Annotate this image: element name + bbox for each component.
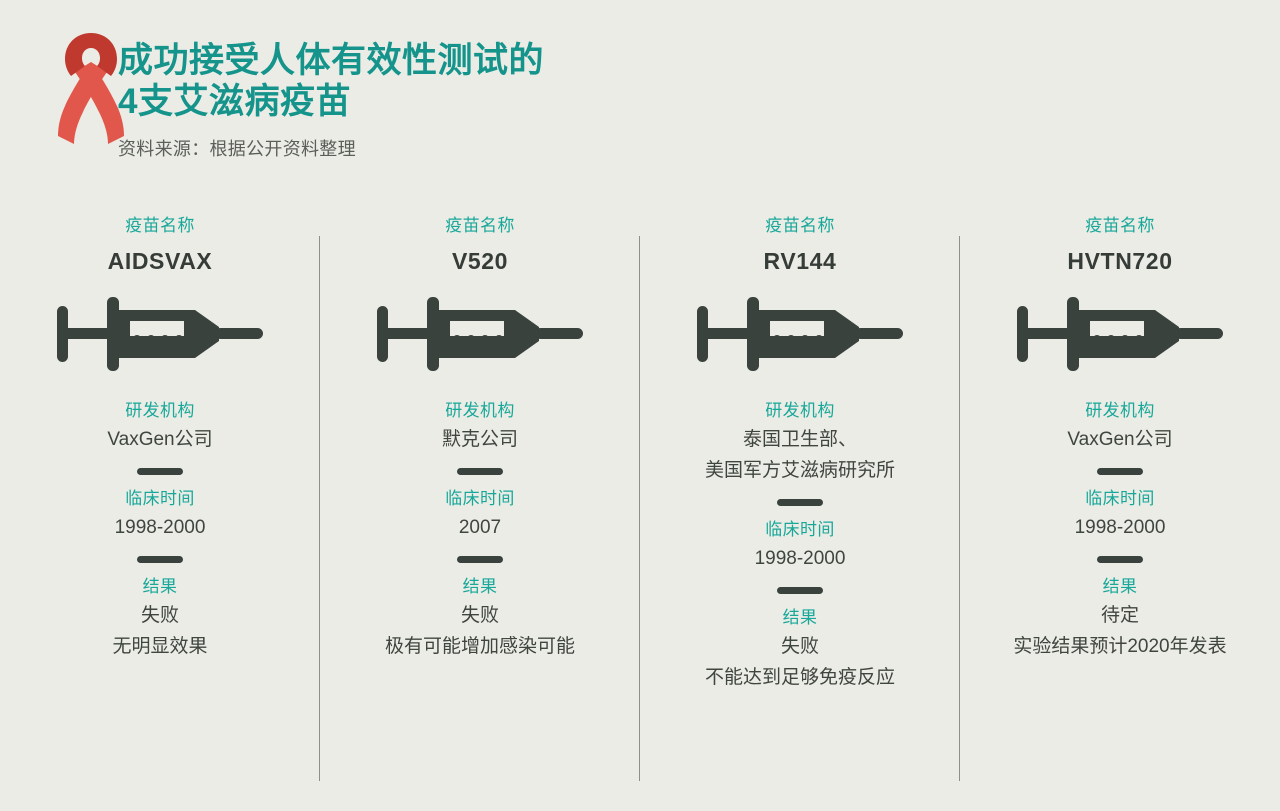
time-block: 临床时间 2007 bbox=[445, 488, 515, 541]
syringe-icon bbox=[697, 294, 903, 374]
result-value-line-2: 实验结果预计2020年发表 bbox=[1013, 633, 1226, 660]
result-value-line-1: 失败 bbox=[385, 602, 575, 629]
label-vaccine-name: 疫苗名称 bbox=[765, 215, 835, 237]
result-block: 结果 失败 极有可能增加感染可能 bbox=[385, 576, 575, 660]
separator-dash bbox=[777, 587, 823, 594]
syringe-icon bbox=[1017, 294, 1223, 374]
result-block: 结果 待定 实验结果预计2020年发表 bbox=[1013, 576, 1226, 660]
page-title-line-1: 成功接受人体有效性测试的 bbox=[118, 40, 544, 81]
vaccine-name-value: AIDSVAX bbox=[108, 248, 213, 275]
org-block: 研发机构 VaxGen公司 bbox=[1067, 400, 1172, 453]
org-block: 研发机构 VaxGen公司 bbox=[107, 400, 212, 453]
result-value-line-1: 失败 bbox=[705, 633, 895, 660]
label-result: 结果 bbox=[112, 576, 207, 598]
separator-dash bbox=[1097, 556, 1143, 563]
title-block: 成功接受人体有效性测试的 4支艾滋病疫苗 资料来源：根据公开资料整理 bbox=[118, 40, 544, 161]
vaccine-column-aidsvax: 疫苗名称 AIDSVAX 研发机构 VaxGen公司 临床时间 bbox=[0, 215, 320, 785]
label-time: 临床时间 bbox=[115, 488, 206, 510]
org-value-line-1: 默克公司 bbox=[442, 426, 518, 453]
label-org: 研发机构 bbox=[107, 400, 212, 422]
label-org: 研发机构 bbox=[1067, 400, 1172, 422]
result-value-line-2: 极有可能增加感染可能 bbox=[385, 633, 575, 660]
vaccine-name-value: RV144 bbox=[764, 248, 837, 275]
result-value-line-2: 不能达到足够免疫反应 bbox=[705, 664, 895, 691]
vaccine-name-value: V520 bbox=[452, 248, 508, 275]
vaccine-name-value: HVTN720 bbox=[1067, 248, 1172, 275]
label-result: 结果 bbox=[1013, 576, 1226, 598]
time-value: 2007 bbox=[445, 514, 515, 541]
label-result: 结果 bbox=[385, 576, 575, 598]
separator-dash bbox=[457, 468, 503, 475]
page-title-line-2: 4支艾滋病疫苗 bbox=[118, 81, 544, 122]
org-value-line-1: VaxGen公司 bbox=[107, 426, 212, 453]
vaccine-column-rv144: 疫苗名称 RV144 研发机构 泰国卫生部、 美国军方艾滋病研究所 bbox=[640, 215, 960, 785]
label-vaccine-name: 疫苗名称 bbox=[445, 215, 515, 237]
result-block: 结果 失败 不能达到足够免疫反应 bbox=[705, 607, 895, 691]
vaccine-column-v520: 疫苗名称 V520 研发机构 默克公司 临床时间 2007 bbox=[320, 215, 640, 785]
vaccine-columns: 疫苗名称 AIDSVAX 研发机构 VaxGen公司 临床时间 bbox=[0, 215, 1280, 785]
label-result: 结果 bbox=[705, 607, 895, 629]
label-vaccine-name: 疫苗名称 bbox=[1085, 215, 1155, 237]
separator-dash bbox=[777, 499, 823, 506]
result-value-line-2: 无明显效果 bbox=[112, 633, 207, 660]
vaccine-column-hvtn720: 疫苗名称 HVTN720 研发机构 VaxGen公司 临床时间 bbox=[960, 215, 1280, 785]
label-vaccine-name: 疫苗名称 bbox=[125, 215, 195, 237]
syringe-icon bbox=[377, 294, 583, 374]
label-org: 研发机构 bbox=[442, 400, 518, 422]
label-time: 临床时间 bbox=[445, 488, 515, 510]
separator-dash bbox=[1097, 468, 1143, 475]
separator-dash bbox=[137, 468, 183, 475]
time-value: 1998-2000 bbox=[1075, 514, 1166, 541]
result-value-line-1: 失败 bbox=[112, 602, 207, 629]
time-block: 临床时间 1998-2000 bbox=[1075, 488, 1166, 541]
org-block: 研发机构 默克公司 bbox=[442, 400, 518, 453]
label-time: 临床时间 bbox=[755, 519, 846, 541]
time-value: 1998-2000 bbox=[755, 545, 846, 572]
time-value: 1998-2000 bbox=[115, 514, 206, 541]
org-value-line-1: 泰国卫生部、 bbox=[705, 426, 895, 453]
time-block: 临床时间 1998-2000 bbox=[115, 488, 206, 541]
header: 成功接受人体有效性测试的 4支艾滋病疫苗 资料来源：根据公开资料整理 bbox=[0, 0, 1280, 200]
time-block: 临床时间 1998-2000 bbox=[755, 519, 846, 572]
separator-dash bbox=[137, 556, 183, 563]
org-block: 研发机构 泰国卫生部、 美国军方艾滋病研究所 bbox=[705, 400, 895, 484]
separator-dash bbox=[457, 556, 503, 563]
org-value-line-2: 美国军方艾滋病研究所 bbox=[705, 457, 895, 484]
result-block: 结果 失败 无明显效果 bbox=[112, 576, 207, 660]
result-value-line-1: 待定 bbox=[1013, 602, 1226, 629]
syringe-icon bbox=[57, 294, 263, 374]
label-time: 临床时间 bbox=[1075, 488, 1166, 510]
label-org: 研发机构 bbox=[705, 400, 895, 422]
source-note: 资料来源：根据公开资料整理 bbox=[118, 135, 544, 161]
org-value-line-1: VaxGen公司 bbox=[1067, 426, 1172, 453]
